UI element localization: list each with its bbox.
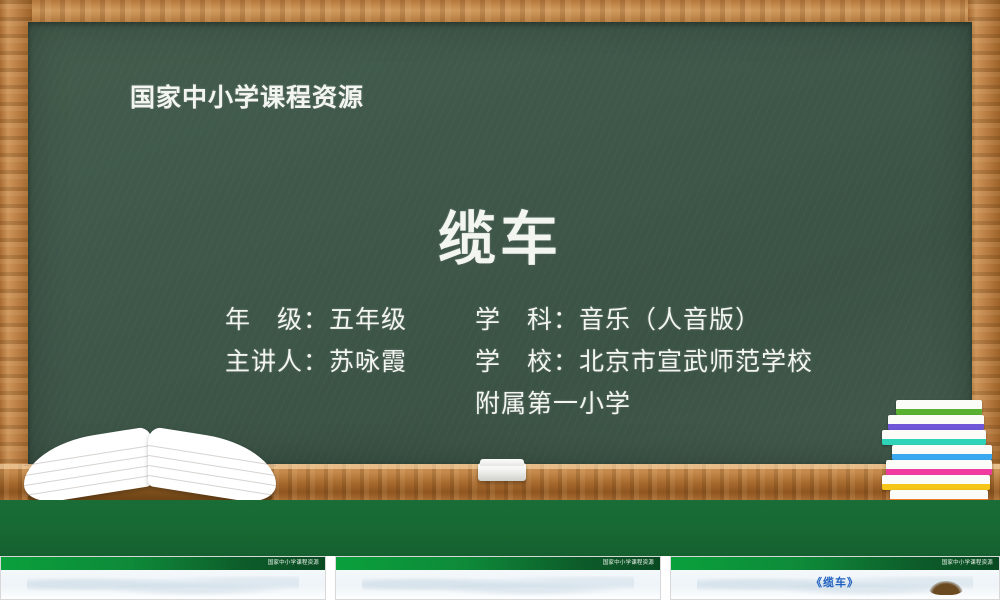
slide-thumbnail[interactable]: 国家中小学课程资源 xyxy=(0,556,326,600)
meta-right-cell: 学 科：音乐（人音版） xyxy=(475,300,775,336)
meta-right-cell: 附属第一小学 xyxy=(475,384,775,420)
open-book-icon xyxy=(18,418,280,496)
meta-left-cell: 主讲人：苏咏霞 xyxy=(225,342,475,378)
thumbnail-brand-label: 国家中小学课程资源 xyxy=(603,559,654,568)
book-stack-icon xyxy=(882,400,994,504)
thumbnail-cablecar-icon xyxy=(929,581,963,595)
meta-left-label: 主讲人： xyxy=(225,347,329,376)
meta-right-value: 北京市宣武师范学校 xyxy=(579,347,813,376)
meta-row: 主讲人：苏咏霞 学 校：北京市宣武师范学校 xyxy=(0,342,1000,384)
meta-right-label: 学 科： xyxy=(475,305,579,334)
thumbnail-body xyxy=(1,570,325,600)
stacked-book xyxy=(896,400,982,415)
meta-right-label: 学 校： xyxy=(475,347,579,376)
stacked-book xyxy=(892,445,992,460)
thumbnail-body xyxy=(336,570,660,600)
meta-left-value: 苏咏霞 xyxy=(329,347,407,376)
meta-right-value: 音乐（人音版） xyxy=(579,305,761,334)
meta-row: 年 级：五年级 学 科：音乐（人音版） xyxy=(0,300,1000,342)
chalkboard-eraser-icon xyxy=(478,463,526,481)
meta-right-cell: 学 校：北京市宣武师范学校 xyxy=(475,342,775,378)
thumbnail-brand-label: 国家中小学课程资源 xyxy=(942,559,993,568)
slide-thumbnail[interactable]: 国家中小学课程资源 《缆车》 xyxy=(670,556,1000,600)
slide-thumbnail-strip: 国家中小学课程资源 国家中小学课程资源 国家中小学课程资源 《缆车》 xyxy=(0,556,1000,600)
stacked-book xyxy=(882,475,990,490)
meta-left-value: 五年级 xyxy=(329,305,407,334)
stacked-book xyxy=(886,460,992,475)
meta-right-value: 附属第一小学 xyxy=(475,389,631,418)
stacked-book xyxy=(888,415,984,430)
slide-thumbnail[interactable]: 国家中小学课程资源 xyxy=(335,556,661,600)
meta-left-cell: 年 级：五年级 xyxy=(225,300,475,336)
slide-title: 缆车 xyxy=(0,192,1000,276)
presentation-slide-view: 国家中小学课程资源 缆车 年 级：五年级 学 科：音乐（人音版） 主讲人：苏咏霞… xyxy=(0,0,1000,600)
stacked-book xyxy=(882,430,986,445)
slide-canvas: 国家中小学课程资源 缆车 年 级：五年级 学 科：音乐（人音版） 主讲人：苏咏霞… xyxy=(0,0,1000,556)
meta-left-label: 年 级： xyxy=(225,305,329,334)
brand-heading: 国家中小学课程资源 xyxy=(130,78,364,114)
green-base-band xyxy=(0,500,1000,556)
thumbnail-brand-label: 国家中小学课程资源 xyxy=(268,559,319,568)
slide-meta-block: 年 级：五年级 学 科：音乐（人音版） 主讲人：苏咏霞 学 校：北京市宣武师范学… xyxy=(0,300,1000,426)
